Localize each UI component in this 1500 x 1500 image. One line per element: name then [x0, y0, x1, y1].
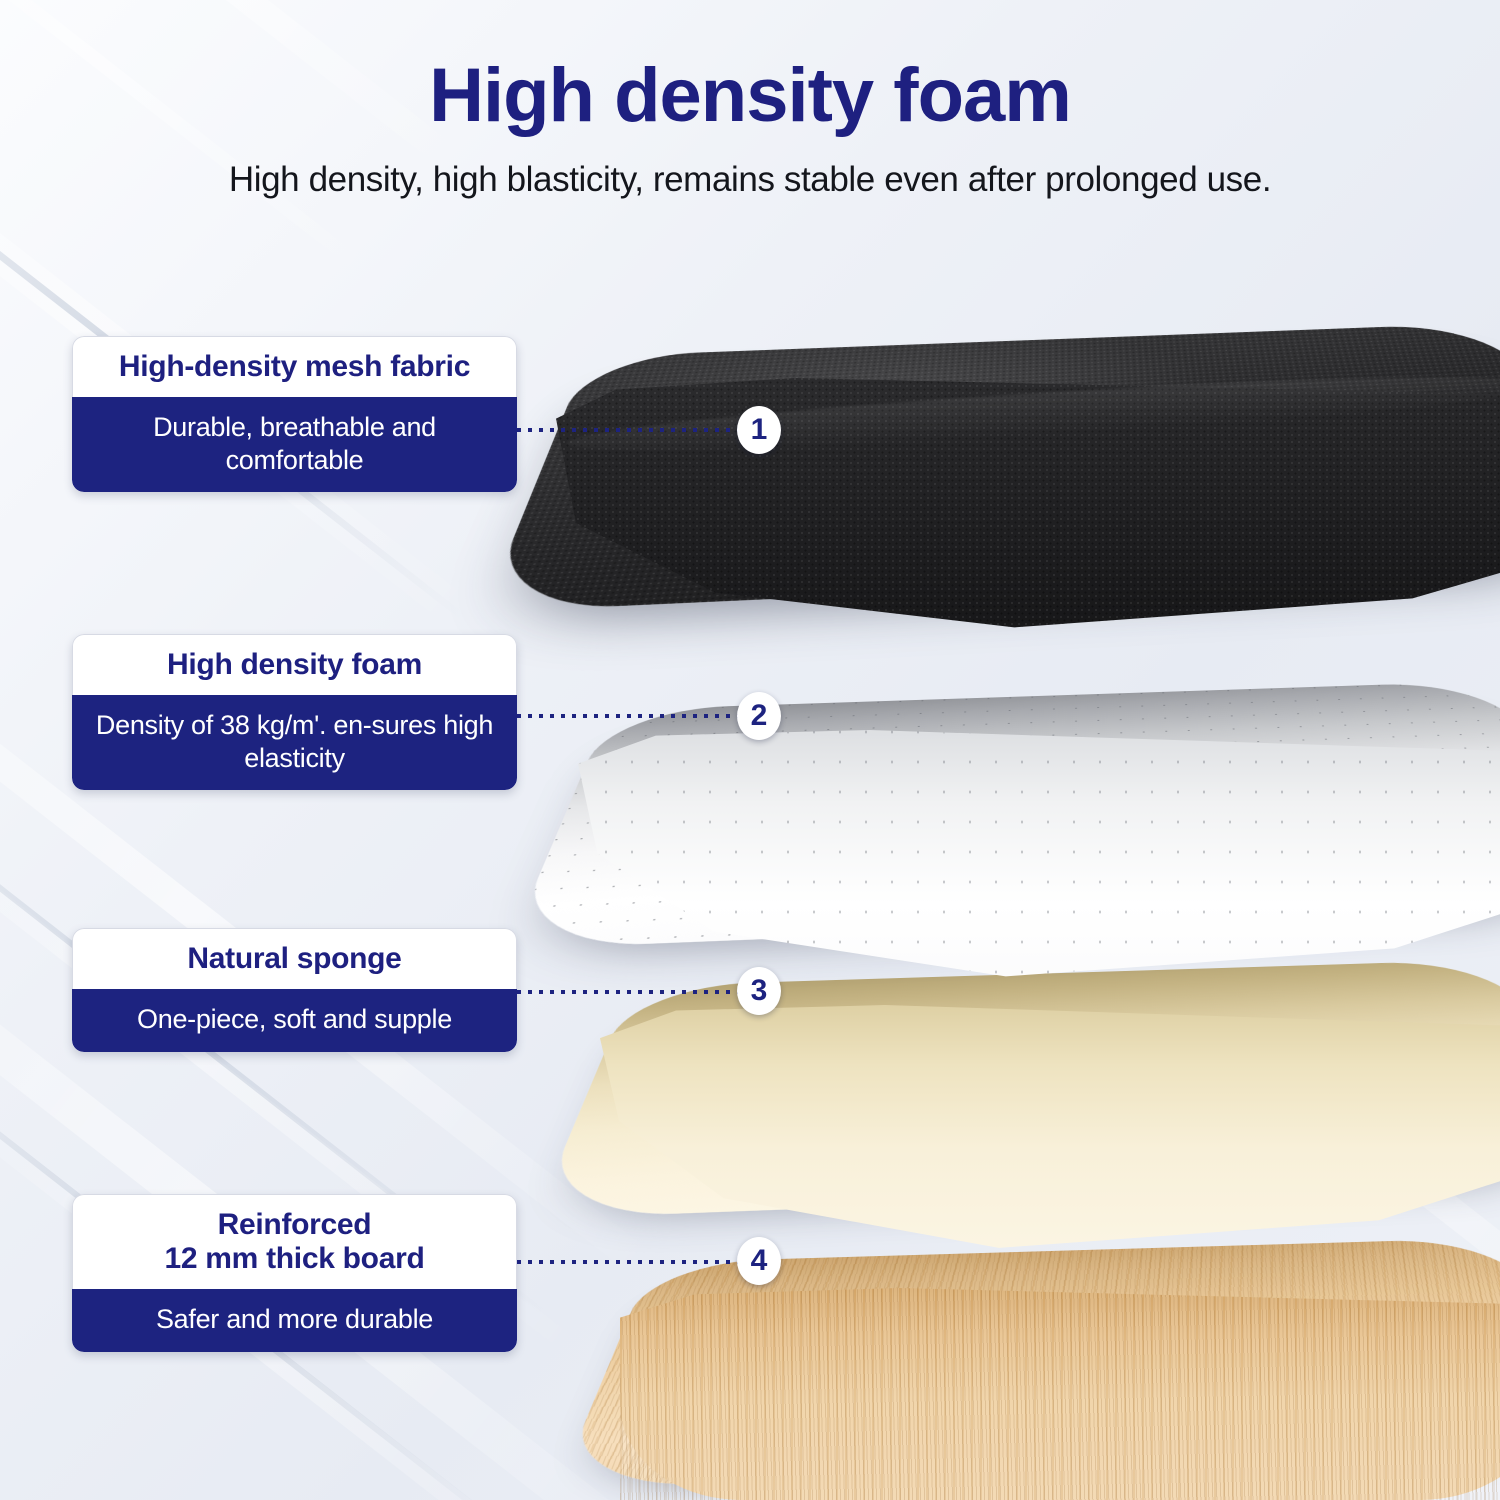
sponge-side-face [600, 1005, 1500, 1281]
wood-board-side-face [620, 1288, 1500, 1500]
connector-line-3 [517, 990, 742, 994]
connector-line-4 [517, 1260, 742, 1264]
callout-heading-1: High-density mesh fabric [72, 336, 517, 397]
connector-line-2 [517, 714, 742, 718]
marker-badge-4[interactable]: 4 [737, 1237, 781, 1285]
header: High density foam High density, high bla… [0, 0, 1500, 200]
callout-card-high-density-foam[interactable]: High density foam Density of 38 kg/m'. e… [72, 634, 517, 790]
page-subtitle: High density, high blasticity, remains s… [0, 134, 1500, 200]
callout-description-4: Safer and more durable [72, 1289, 517, 1351]
callout-description-3: One-piece, soft and supple [72, 989, 517, 1051]
wood-grain-texture-side [620, 1288, 1500, 1500]
marker-badge-3[interactable]: 3 [737, 967, 781, 1015]
infographic-page: High density foam High density, high bla… [0, 0, 1500, 1500]
callout-heading-2: High density foam [72, 634, 517, 695]
marker-badge-2[interactable]: 2 [737, 692, 781, 740]
callout-card-natural-sponge[interactable]: Natural sponge One-piece, soft and suppl… [72, 928, 517, 1052]
callout-description-1: Durable, breathable and comfortable [72, 397, 517, 492]
page-title: High density foam [0, 0, 1500, 134]
connector-line-1 [517, 428, 742, 432]
callout-description-2: Density of 38 kg/m'. en-sures high elast… [72, 695, 517, 790]
callout-heading-4: Reinforced 12 mm thick board [72, 1194, 517, 1289]
callout-heading-3: Natural sponge [72, 928, 517, 989]
callout-card-mesh-fabric[interactable]: High-density mesh fabric Durable, breath… [72, 336, 517, 492]
callout-card-wood-board[interactable]: Reinforced 12 mm thick board Safer and m… [72, 1194, 517, 1352]
marker-badge-1[interactable]: 1 [737, 406, 781, 454]
